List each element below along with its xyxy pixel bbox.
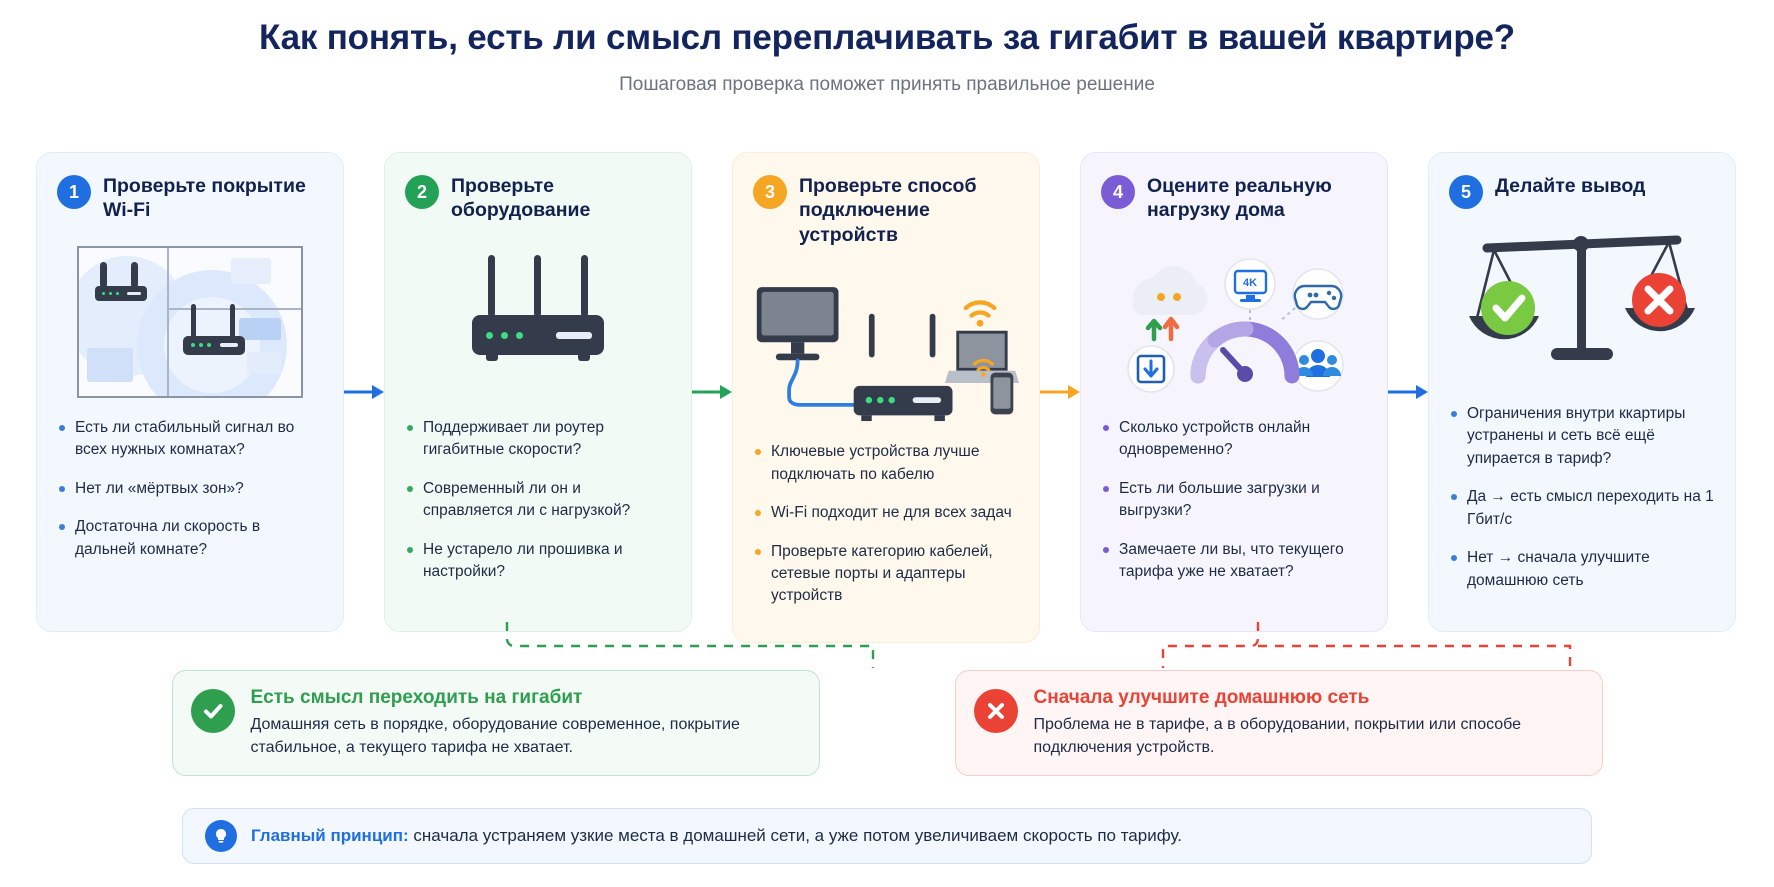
step-3-header: 3 Проверьте способ подключение устройств: [753, 173, 1019, 247]
arrow-step4-to-step5: [1388, 152, 1428, 632]
step-2-bullets: Поддерживает ли роутер гигабитные скорос…: [405, 417, 671, 584]
principle-text: Главный принцип: сначала устраняем узкие…: [251, 826, 1182, 846]
verdict-negative-text: Проблема не в тарифе, а в оборудовании, …: [1034, 713, 1582, 759]
list-item: Достаточна ли скорость в дальней комнате…: [57, 516, 323, 561]
step-4-header: 4 Оцените реальную нагрузку дома: [1101, 173, 1367, 223]
step-3-bullets: Ключевые устройства лучше подключать по …: [753, 441, 1019, 608]
step-5-title: Делайте вывод: [1495, 173, 1645, 198]
step-4-bullets: Сколько устройств онлайн одновременно? Е…: [1101, 417, 1367, 584]
lightbulb-icon: [205, 820, 237, 852]
scales-balance-icon: [1449, 223, 1715, 393]
list-item: Нет ли «мёртвых зон»?: [57, 478, 323, 500]
arrow-step3-to-step4: [1040, 152, 1080, 632]
arrow-step2-to-step3: [692, 152, 732, 632]
list-item: Есть ли большие загрузки и выгрузки?: [1101, 478, 1367, 523]
step-1-bullets: Есть ли стабильный сигнал во всех нужных…: [57, 417, 323, 561]
step-4-number-badge: 4: [1101, 175, 1135, 209]
list-item: Замечаете ли вы, что текущего тарифа уже…: [1101, 539, 1367, 584]
arrow-step1-to-step2: [344, 152, 384, 632]
list-item: Wi-Fi подходит не для всех задач: [753, 502, 1019, 524]
page-subtitle: Пошаговая проверка поможет принять прави…: [0, 74, 1774, 96]
infographic-page: Как понять, есть ли смысл переплачивать …: [0, 0, 1774, 887]
verdict-positive-body: Есть смысл переходить на гигабит Домашня…: [251, 687, 799, 759]
list-item: Ключевые устройства лучше подключать по …: [753, 441, 1019, 486]
list-item: Проверьте категорию кабелей, сетевые пор…: [753, 541, 1019, 608]
router-icon: [405, 237, 671, 407]
step-1-title: Проверьте покрытие Wi-Fi: [103, 173, 323, 223]
verdict-negative[interactable]: Сначала улучшите домашнюю сеть Проблема …: [955, 670, 1603, 776]
step-2-number-badge: 2: [405, 175, 439, 209]
cloud-icon: [1132, 266, 1207, 315]
principle-body: сначала устраняем узкие места в домашней…: [409, 826, 1182, 845]
devices-connection-icon: [753, 261, 1019, 431]
list-item: Не устарело ли прошивка и настройки?: [405, 539, 671, 584]
verdict-positive-title: Есть смысл переходить на гигабит: [251, 687, 799, 709]
quality-label-4k: 4K: [1243, 277, 1257, 289]
cross-circle-icon: [974, 689, 1018, 733]
step-5-number-badge: 5: [1449, 175, 1483, 209]
step-4-title: Оцените реальную нагрузку дома: [1147, 173, 1367, 223]
list-item: Сколько устройств онлайн одновременно?: [1101, 417, 1367, 462]
page-title: Как понять, есть ли смысл переплачивать …: [0, 18, 1774, 58]
verdict-positive[interactable]: Есть смысл переходить на гигабит Домашня…: [172, 670, 820, 776]
list-item: Поддерживает ли роутер гигабитные скорос…: [405, 417, 671, 462]
list-item: Нет → сначала улучшите домашнюю сеть: [1449, 547, 1715, 592]
floorplan-wifi-coverage-icon: [57, 237, 323, 407]
steps-row: 1 Проверьте покрытие Wi-Fi: [36, 152, 1738, 643]
step-card-5[interactable]: 5 Делайте вывод: [1428, 152, 1736, 632]
list-item: Да → есть смысл переходить на 1 Гбит/с: [1449, 486, 1715, 531]
step-card-2[interactable]: 2 Проверьте оборудование: [384, 152, 692, 632]
list-item: Современный ли он и справляется ли с наг…: [405, 478, 671, 523]
verdicts-row: Есть смысл переходить на гигабит Домашня…: [0, 670, 1774, 776]
check-circle-icon: [191, 689, 235, 733]
step-1-header: 1 Проверьте покрытие Wi-Fi: [57, 173, 323, 223]
step-card-1[interactable]: 1 Проверьте покрытие Wi-Fi: [36, 152, 344, 632]
speed-gauge-load-icon: 4K: [1101, 237, 1367, 407]
step-1-number-badge: 1: [57, 175, 91, 209]
step-2-header: 2 Проверьте оборудование: [405, 173, 671, 223]
principle-label: Главный принцип:: [251, 826, 409, 845]
list-item: Ограничения внутри ккартиры устранены и …: [1449, 403, 1715, 470]
step-5-header: 5 Делайте вывод: [1449, 173, 1715, 209]
step-card-3[interactable]: 3 Проверьте способ подключение устройств: [732, 152, 1040, 643]
step-3-title: Проверьте способ подключение устройств: [799, 173, 1019, 247]
list-item: Есть ли стабильный сигнал во всех нужных…: [57, 417, 323, 462]
step-2-title: Проверьте оборудование: [451, 173, 671, 223]
step-3-number-badge: 3: [753, 175, 787, 209]
verdict-negative-body: Сначала улучшите домашнюю сеть Проблема …: [1034, 687, 1582, 759]
step-card-4[interactable]: 4 Оцените реальную нагрузку дома: [1080, 152, 1388, 632]
verdict-negative-title: Сначала улучшите домашнюю сеть: [1034, 687, 1582, 709]
verdict-positive-text: Домашняя сеть в порядке, оборудование со…: [251, 713, 799, 759]
principle-bar: Главный принцип: сначала устраняем узкие…: [182, 808, 1592, 864]
step-5-bullets: Ограничения внутри ккартиры устранены и …: [1449, 403, 1715, 592]
header: Как понять, есть ли смысл переплачивать …: [0, 0, 1774, 96]
